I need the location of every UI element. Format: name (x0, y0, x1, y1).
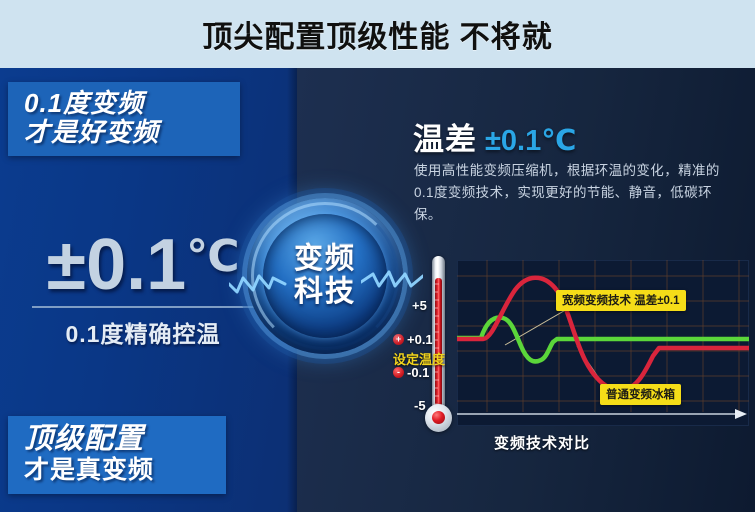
chart-caption: 变频技术对比 (494, 432, 590, 453)
x-axis-arrow (457, 409, 747, 419)
callout-green-series: 宽频变频技术 温差±0.1 (556, 290, 686, 311)
banner-top: 0.1度变频 才是好变频 (8, 82, 240, 156)
divider (32, 306, 254, 308)
big-temperature-block: ±0.1℃ 0.1度精确控温 (18, 218, 268, 349)
right-headline: 温差±0.1℃ (413, 114, 576, 159)
banner-bottom-line1: 顶级配置 (24, 423, 212, 455)
thermometer-ticks (435, 280, 442, 414)
axis-label-minus5: -5 (414, 398, 426, 413)
callout-red-series: 普通变频冰箱 (600, 384, 681, 405)
banner-bottom-line2: 才是真变频 (24, 455, 212, 485)
header-bar: 顶尖配置顶级性能 不将就 (0, 0, 755, 68)
right-body-text: 使用高性能变频压缩机，根据环温的变化，精准的0.1度变频技术，实现更好的节能、静… (414, 160, 732, 226)
big-temperature-value: ±0.1℃ (18, 218, 268, 304)
banner-top-line2: 才是好变频 (24, 117, 226, 147)
banner-bottom: 顶级配置 才是真变频 (8, 416, 226, 494)
big-temp-unit: ℃ (186, 232, 239, 281)
axis-label-plus01: +0.1 (407, 332, 433, 347)
badge-line2: 科技 (294, 276, 356, 309)
page-title: 顶尖配置顶级性能 不将就 (202, 12, 552, 56)
set-point-plus-icon: + (393, 334, 404, 345)
thermometer-tick-marks (435, 280, 442, 414)
big-temperature-subtitle: 0.1度精确控温 (18, 315, 268, 349)
big-temp-number: ±0.1 (47, 225, 187, 305)
banner-top-line1: 0.1度变频 (24, 89, 226, 117)
promo-banner: 顶尖配置顶级性能 不将就 0.1度变频 才是好变频 ±0.1℃ 0.1度精确控温… (0, 0, 755, 512)
headline-main: 温差 (413, 122, 477, 157)
brand-badge: 变频 科技 (247, 198, 403, 354)
axis-label-plus5: +5 (412, 298, 427, 313)
thermometer-bulb (425, 404, 452, 432)
axis-label-minus01: -0.1 (407, 365, 429, 380)
series-green-line (457, 318, 749, 362)
badge-line1: 变频 (294, 243, 356, 276)
set-point-minus-icon: - (393, 367, 404, 378)
badge-inner-disc: 变频 科技 (263, 214, 387, 338)
headline-value: ±0.1℃ (485, 125, 576, 157)
